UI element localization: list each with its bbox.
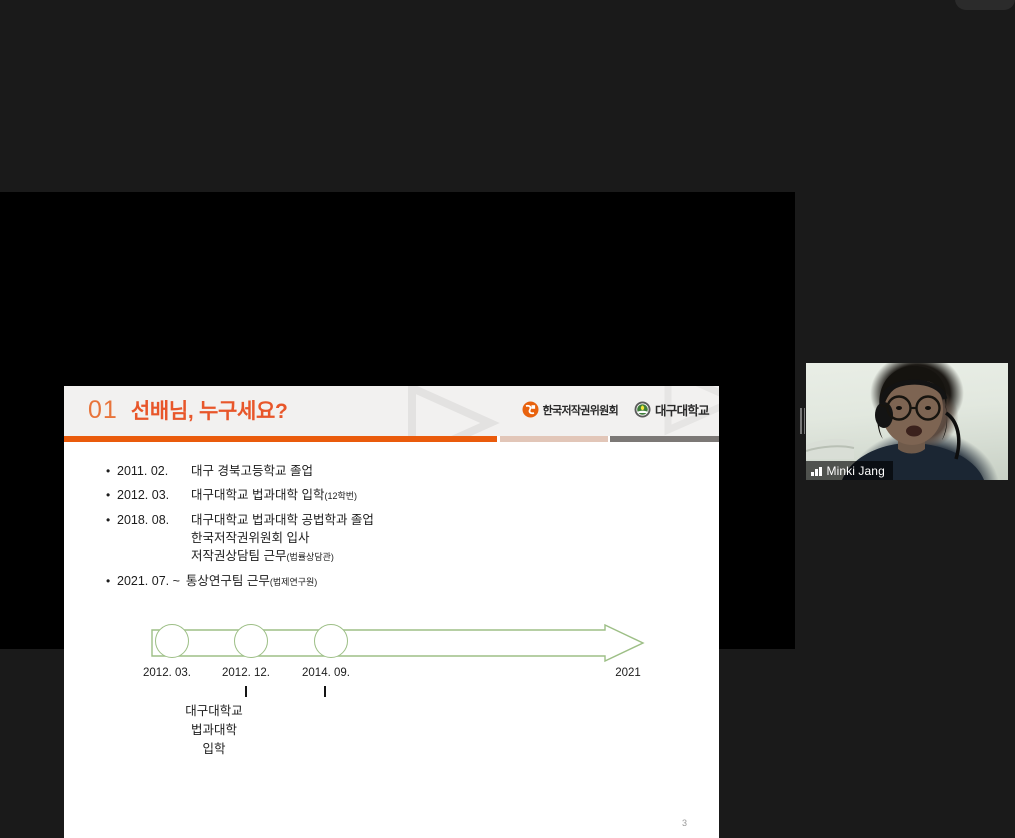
- timeline-annotation-line: 대구대학교: [172, 702, 256, 721]
- bullet-body: 통상연구팀 근무(법제연구원): [186, 572, 317, 591]
- logo-kcc-label: 한국저작권위원회: [543, 402, 618, 418]
- timeline-node: [314, 624, 348, 658]
- accent-bar-tertiary: [610, 436, 719, 442]
- accent-bar-primary: [64, 436, 497, 442]
- bullet-date: 2012. 03.: [117, 486, 191, 504]
- bullet-dot-icon: •: [106, 486, 117, 504]
- list-item: • 2021. 07. ~ 통상연구팀 근무(법제연구원): [106, 572, 666, 591]
- bullet-line-note: (12학번): [324, 491, 357, 501]
- bullet-line-text: 저작권상담팀 근무: [191, 549, 286, 563]
- timeline-annotation-line: 입학: [172, 740, 256, 759]
- list-item: • 2018. 08. 대구대학교 법과대학 공법학과 졸업 한국저작권위원회 …: [106, 511, 666, 566]
- bullet-line-text: 대구대학교 법과대학 입학: [191, 488, 324, 502]
- bullet-line: 대구대학교 법과대학 입학(12학번): [191, 486, 357, 505]
- bullet-line-note: (법제연구원): [270, 577, 317, 587]
- timeline-arrow-icon: [150, 624, 650, 664]
- signal-bars-icon: [811, 466, 822, 476]
- slide-page-number: 3: [682, 818, 687, 828]
- participant-video-tile[interactable]: Minki Jang: [806, 363, 1008, 480]
- bullet-date: 2018. 08.: [117, 511, 191, 529]
- logo-daegu-university-label: 대구대학교: [655, 400, 709, 419]
- slide-section-number: 01: [88, 396, 118, 425]
- bullet-line: 통상연구팀 근무(법제연구원): [186, 572, 317, 591]
- timeline-node-label: 2014. 09.: [298, 667, 354, 679]
- triangle-watermark-icon: [394, 386, 504, 436]
- list-item: • 2012. 03. 대구대학교 법과대학 입학(12학번): [106, 486, 666, 505]
- timeline-node: [155, 624, 189, 658]
- bullet-line: 대구 경북고등학교 졸업: [191, 462, 313, 480]
- slide-title-row: 01 선배님, 누구세요?: [88, 395, 288, 425]
- kcc-logo-icon: [522, 401, 539, 418]
- bullet-body: 대구대학교 법과대학 공법학과 졸업 한국저작권위원회 입사 저작권상담팀 근무…: [191, 511, 374, 566]
- bullet-date: 2021. 07. ~: [117, 572, 180, 590]
- bullet-body: 대구 경북고등학교 졸업: [191, 462, 313, 480]
- timeline-node-label: 2012. 12.: [218, 667, 274, 679]
- slide-logos: 한국저작권위원회 대구대학교: [522, 400, 709, 419]
- timeline-node: [234, 624, 268, 658]
- bullet-line: 한국저작권위원회 입사: [191, 529, 374, 547]
- participant-name-label: Minki Jang: [827, 464, 885, 478]
- collapsed-toolbar-pill[interactable]: [955, 0, 1015, 10]
- timeline-graphic: 2012. 03. 2012. 12. 2014. 09. 2021 대구대학교…: [150, 624, 670, 784]
- bullet-date: 2011. 02.: [117, 462, 191, 480]
- accent-bar-secondary: [500, 436, 608, 442]
- bullet-dot-icon: •: [106, 462, 117, 480]
- slide-header: 01 선배님, 누구세요? 한국저작권위원회: [64, 386, 719, 436]
- bullet-line-note: (법률상담관): [286, 552, 333, 562]
- slide-bullet-list: • 2011. 02. 대구 경북고등학교 졸업 • 2012. 03. 대구대…: [106, 462, 666, 597]
- logo-kcc: 한국저작권위원회: [522, 401, 618, 418]
- timeline-tick-mark: [324, 686, 326, 697]
- shared-screen-stage: 01 선배님, 누구세요? 한국저작권위원회: [0, 192, 795, 649]
- timeline-annotation: 대구대학교 법과대학 입학: [172, 702, 256, 759]
- bullet-line-text: 통상연구팀 근무: [186, 574, 270, 588]
- bullet-body: 대구대학교 법과대학 입학(12학번): [191, 486, 357, 505]
- logo-daegu-university: 대구대학교: [634, 400, 709, 419]
- timeline-end-label: 2021: [602, 667, 654, 679]
- slide-title: 선배님, 누구세요?: [131, 395, 288, 425]
- list-item: • 2011. 02. 대구 경북고등학교 졸업: [106, 462, 666, 480]
- meeting-app-root: 01 선배님, 누구세요? 한국저작권위원회: [0, 0, 1015, 797]
- bullet-line: 대구대학교 법과대학 공법학과 졸업: [191, 511, 374, 529]
- timeline-tick-mark: [245, 686, 247, 697]
- bullet-dot-icon: •: [106, 511, 117, 529]
- slide-accent-bars: [64, 436, 719, 442]
- participant-name-chip: Minki Jang: [806, 461, 893, 480]
- timeline-annotation-line: 법과대학: [172, 721, 256, 740]
- bullet-dot-icon: •: [106, 572, 117, 590]
- bullet-line: 저작권상담팀 근무(법률상담관): [191, 547, 374, 566]
- presentation-slide: 01 선배님, 누구세요? 한국저작권위원회: [64, 386, 719, 838]
- daegu-university-seal-icon: [634, 401, 651, 418]
- timeline-node-label: 2012. 03.: [139, 667, 195, 679]
